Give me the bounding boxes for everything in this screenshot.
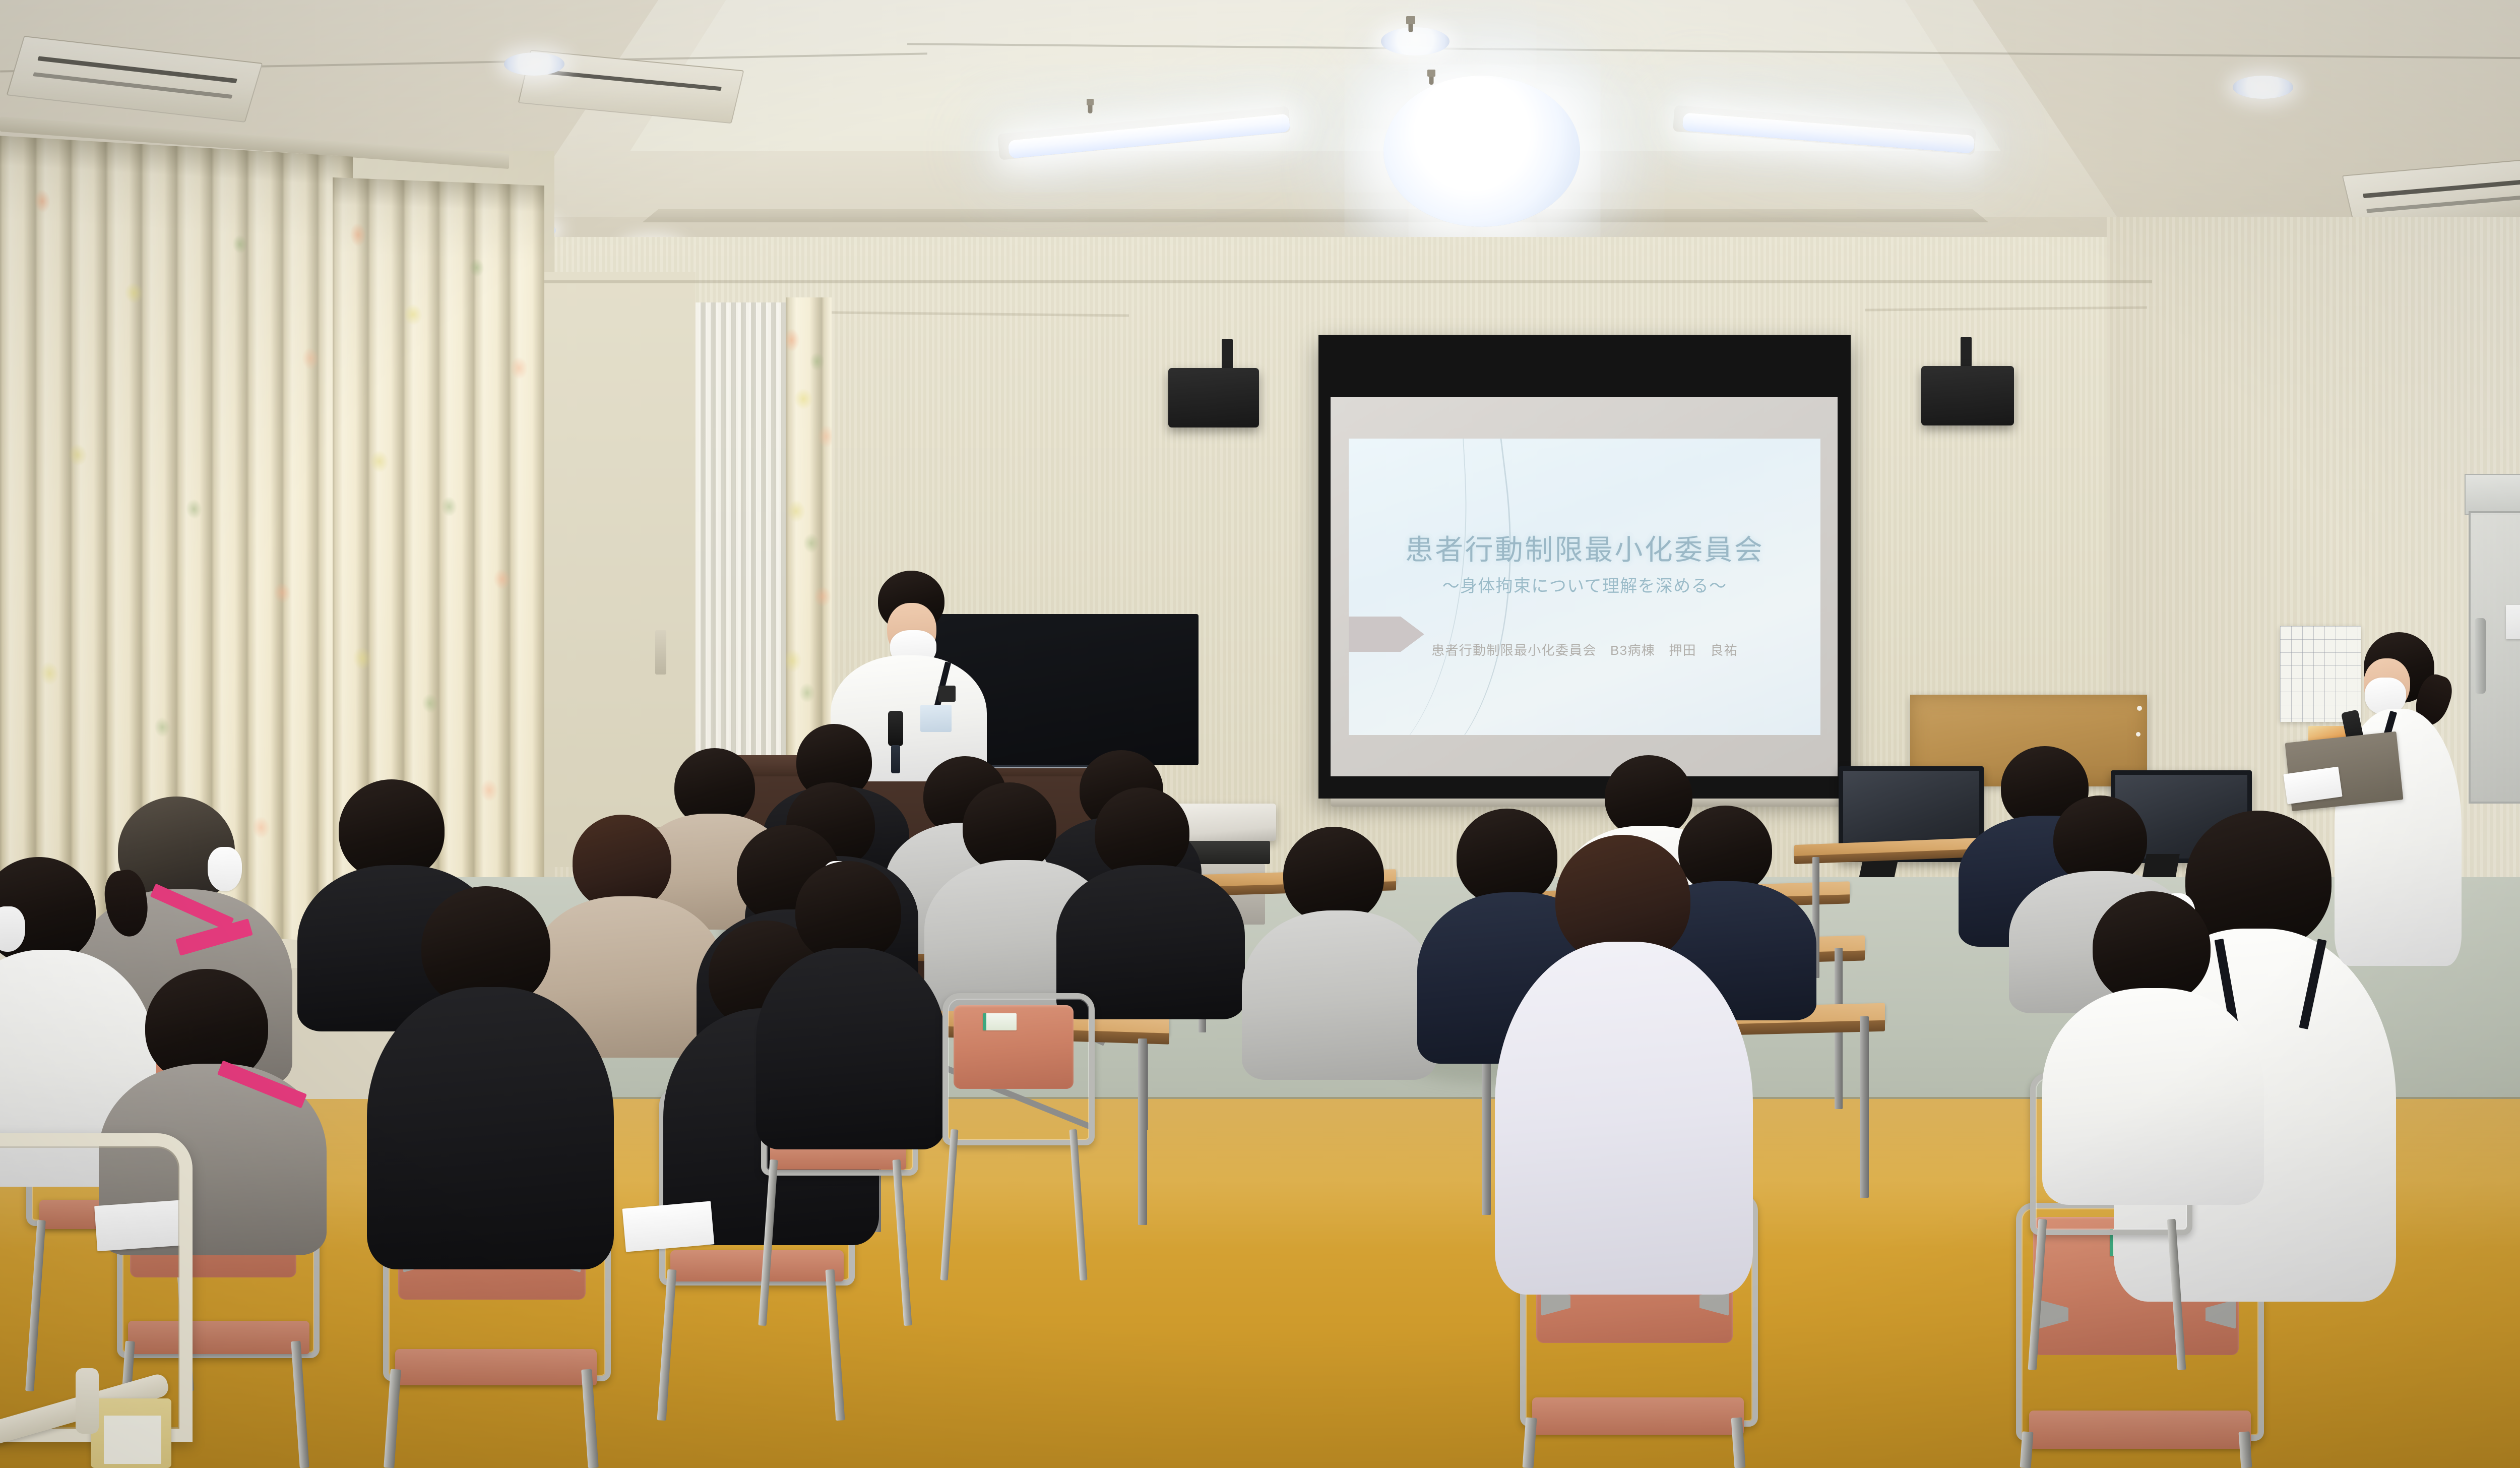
conference-room-photo: 患者行動制限最小化委員会 ～身体拘束について理解を深める～ 患者行動制限最小化委…: [0, 0, 2520, 1468]
audience-head-r3: [2093, 891, 2211, 1004]
audience-body-l3: [367, 987, 614, 1269]
presentation-slide: 患者行動制限最小化委員会 ～身体拘束について理解を深める～ 患者行動制限最小化委…: [1349, 439, 1820, 735]
projection-screen-surface: 患者行動制限最小化委員会 ～身体拘束について理解を深める～ 患者行動制限最小化委…: [1331, 397, 1838, 776]
wall-trim-upper: [494, 280, 2152, 283]
audience-body-r3: [2042, 988, 2264, 1205]
speaker-left: [1168, 368, 1259, 427]
slide-subtitle: ～身体拘束について理解を深める～: [1349, 572, 1820, 597]
chair-l6-label: [983, 1013, 1017, 1030]
bed-rail-panel-label: [104, 1416, 161, 1464]
audience-head-c7: [1283, 827, 1384, 924]
bed-rail-post: [76, 1368, 99, 1434]
audience-body-r1: [1495, 942, 1753, 1295]
speaker-right-mount: [1961, 337, 1972, 367]
sprinkler-1: [1406, 16, 1415, 24]
downlight-far-left: [504, 52, 564, 76]
chair-r2-seat: [2029, 1411, 2251, 1449]
sprinkler-2: [1427, 70, 1435, 77]
door-handle[interactable]: [2475, 618, 2486, 694]
dome-light: [1383, 76, 1580, 227]
audience-body-c7: [1242, 910, 1436, 1080]
speaker-right: [1921, 366, 2014, 425]
wall-calendar: [2280, 626, 2361, 722]
light-switch[interactable]: [655, 630, 666, 675]
curtain-left-shade: [0, 136, 353, 369]
downlight-center: [1381, 27, 1450, 55]
projection-screen-frame: 患者行動制限最小化委員会 ～身体拘束について理解を深める～ 患者行動制限最小化委…: [1318, 335, 1851, 799]
curtain-left-shade-2: [333, 177, 544, 377]
presenter-id-badge: [920, 705, 952, 732]
calendar-grid: [2280, 626, 2361, 722]
screen-bottom-bar: [1331, 799, 1843, 807]
audience-head-c8: [1457, 809, 1557, 905]
table-right3-leg-2: [1860, 1016, 1869, 1198]
presenter-microphone-stand: [888, 711, 903, 746]
chair-l4-seat: [670, 1250, 844, 1281]
table-row3-left-leg: [1138, 1038, 1147, 1225]
chair-r1-seat: [1532, 1397, 1744, 1435]
presenter-pocket-pens: [938, 686, 956, 702]
speaker-left-mount: [1222, 339, 1233, 370]
corkboard-pin-1: [2137, 706, 2142, 711]
sprinkler-3: [1087, 99, 1094, 105]
mic-stand-pole: [891, 745, 900, 773]
door-header: [2465, 474, 2520, 515]
audience-head-c1: [963, 782, 1056, 872]
corkboard-pin-2: [2136, 732, 2140, 737]
audience-paper-l4: [622, 1201, 715, 1252]
downlight-far-right: [2233, 76, 2293, 99]
slide-credit: 患者行動制限最小化委員会 B3病棟 押田 良祐: [1349, 640, 1820, 659]
audience-body-l5: [756, 948, 946, 1149]
chair-l3-seat: [395, 1349, 597, 1385]
coffer-edge: [514, 209, 2117, 222]
door-notice: [2506, 605, 2520, 639]
slide-title: 患者行動制限最小化委員会: [1349, 527, 1820, 568]
audience-head-c2: [1095, 787, 1189, 878]
audience-mask-c5: [208, 847, 242, 891]
